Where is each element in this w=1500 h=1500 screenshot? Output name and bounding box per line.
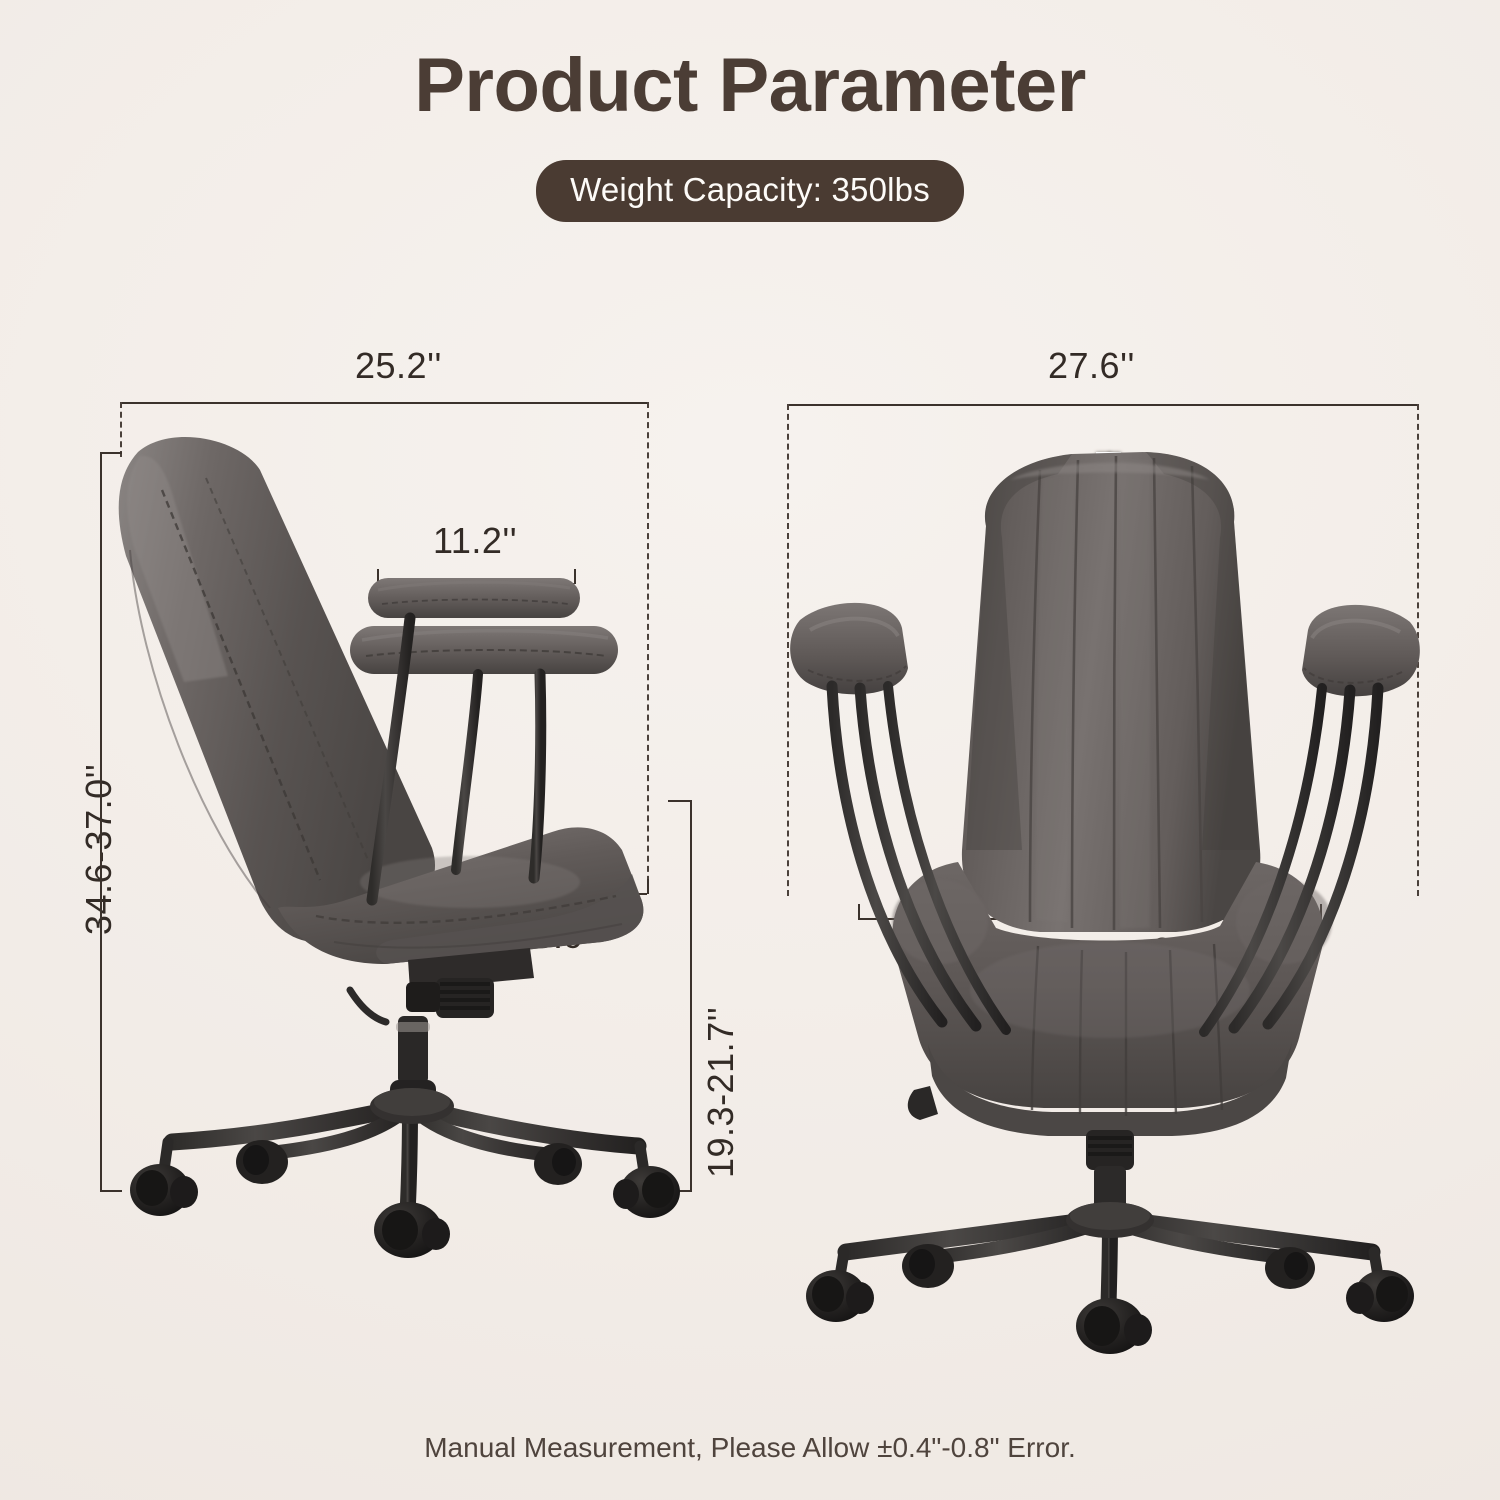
measure-line-overall-depth	[120, 402, 647, 404]
weight-capacity-badge-wrap: Weight Capacity: 350lbs	[0, 160, 1500, 222]
chair-side-view-illustration	[110, 430, 710, 1260]
extension-line-width-left	[787, 404, 789, 896]
dimension-label-overall-width: 27.6''	[1048, 345, 1135, 387]
weight-capacity-badge: Weight Capacity: 350lbs	[536, 160, 964, 222]
measurement-disclaimer: Manual Measurement, Please Allow ±0.4"-0…	[0, 1432, 1500, 1464]
product-parameter-page: Product Parameter Weight Capacity: 350lb…	[0, 0, 1500, 1500]
page-title: Product Parameter	[0, 48, 1500, 124]
chair-front-view-illustration	[790, 430, 1420, 1270]
measure-line-overall-height	[100, 452, 102, 1190]
measure-line-overall-width	[787, 404, 1417, 406]
dimension-label-overall-depth: 25.2''	[355, 345, 442, 387]
